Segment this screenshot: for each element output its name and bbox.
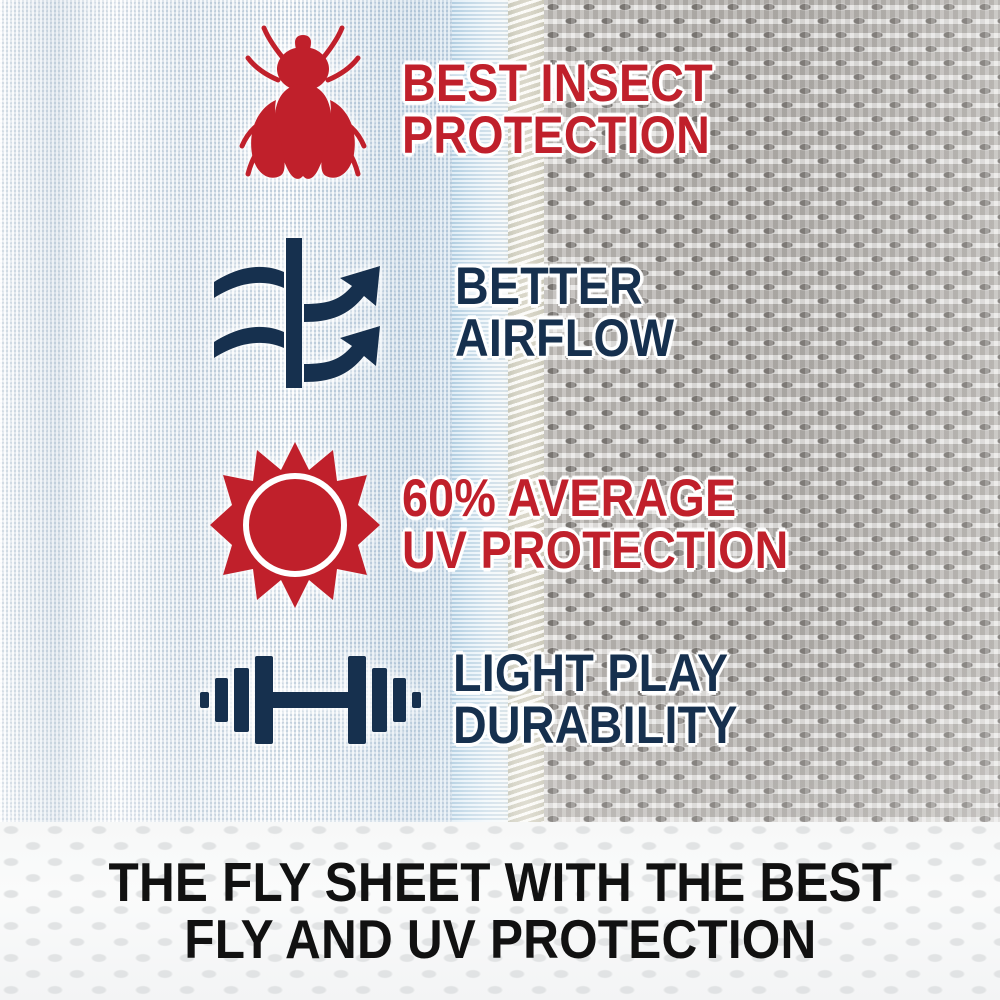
- caption-text: THE FLY SHEET WITH THE BEST FLY AND UV P…: [108, 854, 892, 968]
- feature-label-airflow: BETTER AIRFLOW: [455, 261, 674, 365]
- feature-row-airflow: BETTER AIRFLOW: [200, 238, 704, 388]
- product-feature-graphic: BEST INSECT PROTECTION BETTER AIRFLOW: [0, 0, 1000, 1000]
- fly-icon: [228, 22, 378, 202]
- feature-label-durability: LIGHT PLAY DURABILITY: [453, 648, 738, 752]
- caption-band: THE FLY SHEET WITH THE BEST FLY AND UV P…: [0, 822, 1000, 1000]
- feature-label-uv-protection: 60% AVERAGE UV PROTECTION: [402, 473, 789, 577]
- feature-list: BEST INSECT PROTECTION BETTER AIRFLOW: [0, 0, 1000, 822]
- dumbbell-icon: [198, 650, 423, 750]
- sun-icon: [210, 440, 380, 610]
- airflow-icon: [200, 238, 425, 388]
- feature-row-uv-protection: 60% AVERAGE UV PROTECTION: [210, 440, 841, 610]
- feature-row-insect-protection: BEST INSECT PROTECTION: [228, 22, 755, 202]
- feature-row-durability: LIGHT PLAY DURABILITY: [198, 648, 777, 752]
- feature-label-insect-protection: BEST INSECT PROTECTION: [402, 58, 713, 162]
